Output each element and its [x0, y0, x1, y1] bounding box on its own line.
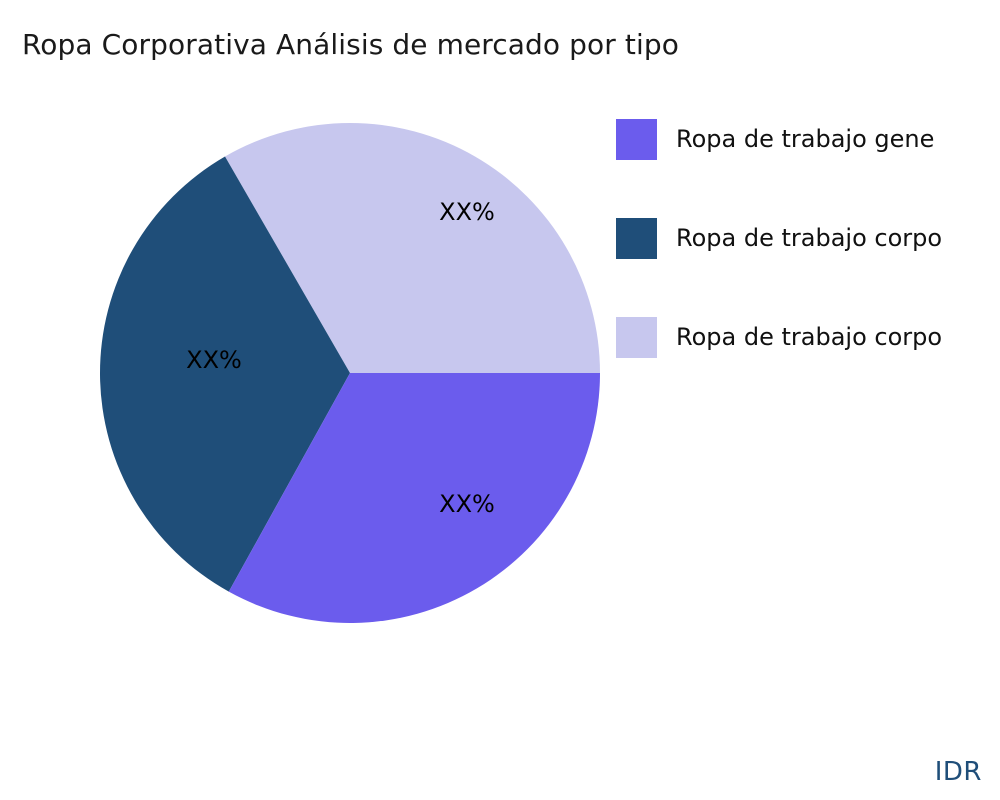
legend-swatch-icon-1: [616, 218, 657, 259]
legend-item-1[interactable]: Ropa de trabajo corpo: [616, 217, 942, 259]
chart-figure: Ropa Corporativa Análisis de mercado por…: [0, 0, 1000, 800]
pie-label-0: XX%: [439, 198, 495, 226]
legend-label-2: Ropa de trabajo corpo: [676, 325, 942, 349]
legend-item-2[interactable]: Ropa de trabajo corpo: [616, 316, 942, 358]
pie-slices: [100, 123, 600, 623]
legend-swatch-icon-0: [616, 119, 657, 160]
pie-label-2: XX%: [439, 490, 495, 518]
legend-swatch-icon-2: [616, 317, 657, 358]
legend-label-1: Ropa de trabajo corpo: [676, 226, 942, 250]
pie-label-1: XX%: [186, 346, 242, 374]
legend-item-0[interactable]: Ropa de trabajo gene: [616, 118, 934, 160]
chart-legend: Ropa de trabajo gene Ropa de trabajo cor…: [616, 118, 1000, 368]
pie-chart: XX% XX% XX%: [80, 100, 625, 650]
legend-label-0: Ropa de trabajo gene: [676, 127, 934, 151]
watermark-idr: IDR: [935, 757, 982, 787]
pie-svg: XX% XX% XX%: [80, 100, 625, 650]
page-title: Ropa Corporativa Análisis de mercado por…: [22, 28, 679, 61]
